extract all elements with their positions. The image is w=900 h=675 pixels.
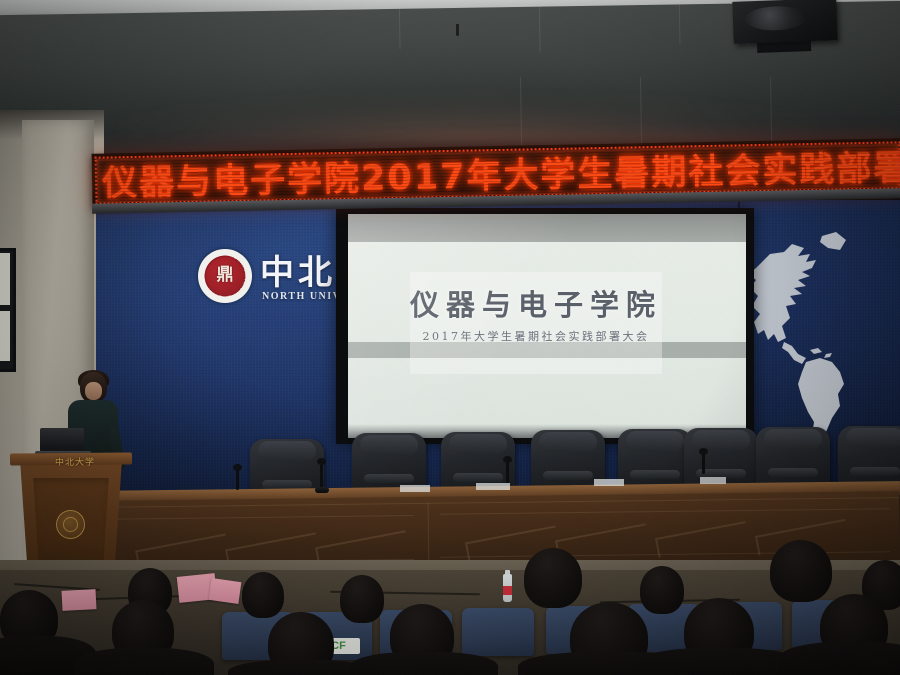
table-microphone bbox=[320, 462, 323, 488]
table-paper bbox=[476, 483, 510, 490]
presenter-face bbox=[85, 382, 102, 400]
audience-head bbox=[242, 572, 284, 618]
auditorium-photo: NORTH UNIVERSITY OF CHINA 鼎 中北大 NORTH UN… bbox=[0, 0, 900, 675]
slide-top-band bbox=[348, 214, 746, 242]
pink-paper-sheet bbox=[61, 589, 96, 611]
wall-light-panel bbox=[0, 248, 16, 372]
table-microphone bbox=[702, 452, 705, 474]
presenter-laptop bbox=[40, 428, 84, 452]
world-map-icon bbox=[740, 222, 900, 452]
podium-rail-label: 中北大学 bbox=[40, 455, 110, 469]
slide-text-card: 仪器与电子学院 2017年大学生暑期社会实践部署大会 bbox=[410, 272, 662, 374]
audience-head bbox=[340, 575, 384, 623]
table-paper bbox=[700, 477, 726, 484]
stage-chair bbox=[756, 427, 830, 487]
audience-seat bbox=[462, 608, 534, 656]
table-microphone bbox=[506, 460, 509, 484]
table-paper bbox=[400, 485, 430, 492]
seal-glyph: 鼎 bbox=[198, 267, 252, 284]
audience-shoulders bbox=[778, 642, 900, 675]
ceiling-light-spill bbox=[120, 96, 820, 142]
screen-surface: 仪器与电子学院 2017年大学生暑期社会实践部署大会 bbox=[348, 214, 746, 438]
microphone-base bbox=[315, 487, 329, 493]
slide-title: 仪器与电子学院 bbox=[410, 282, 662, 324]
table-paper bbox=[594, 479, 624, 486]
table-microphone bbox=[236, 468, 239, 490]
university-seal-icon: NORTH UNIVERSITY OF CHINA 鼎 bbox=[198, 249, 252, 303]
stage-chair bbox=[618, 429, 692, 489]
projection-screen: 仪器与电子学院 2017年大学生暑期社会实践部署大会 bbox=[336, 208, 754, 444]
audience-head bbox=[770, 540, 832, 602]
ceiling-speaker-icon bbox=[732, 0, 837, 44]
audience-head bbox=[640, 566, 684, 614]
stage-chair bbox=[352, 433, 426, 493]
podium-crest-icon bbox=[56, 510, 85, 539]
pink-paper-sheet bbox=[209, 578, 242, 604]
audience-shoulders bbox=[74, 648, 214, 675]
ceiling-hook bbox=[456, 24, 459, 36]
slide-subtitle: 2017年大学生暑期社会实践部署大会 bbox=[410, 328, 662, 344]
audience-head bbox=[524, 548, 582, 608]
audience-shoulders bbox=[350, 652, 498, 675]
water-bottle bbox=[503, 574, 512, 602]
stage-chair bbox=[838, 426, 900, 486]
